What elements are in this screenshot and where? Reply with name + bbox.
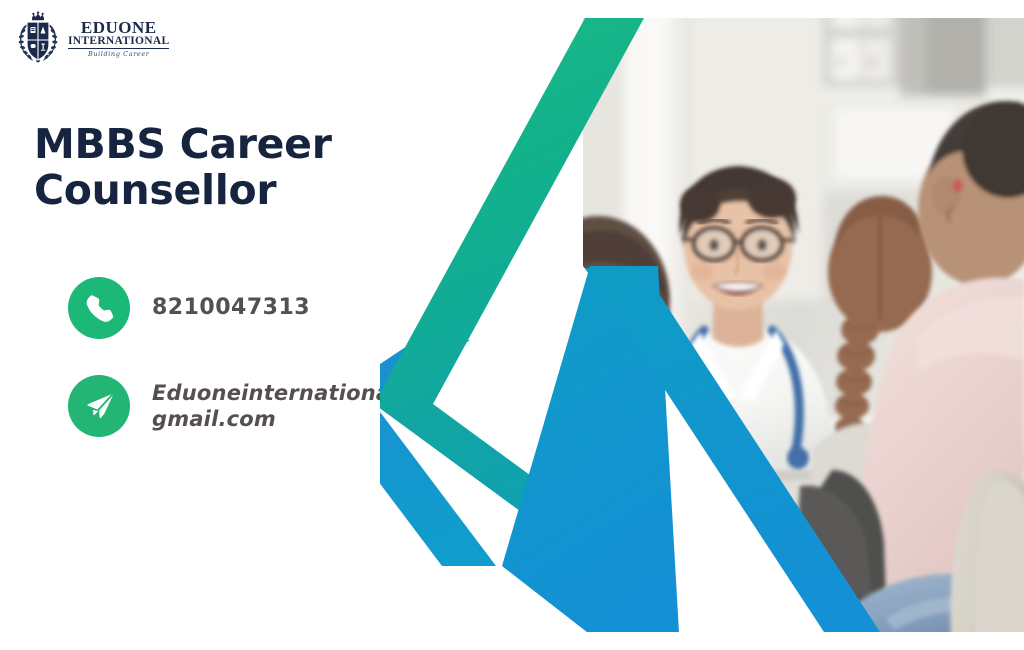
contact-email[interactable]: Eduoneinternational@ gmail.com <box>68 375 419 437</box>
career-counsellor-banner: EDUONE INTERNATIONAL Building Career MBB… <box>0 0 1024 650</box>
logo-line-1: EDUONE <box>81 19 157 36</box>
contact-phone[interactable]: 8210047313 <box>68 277 310 339</box>
shield-crest-icon <box>14 11 62 65</box>
brand-logo[interactable]: EDUONE INTERNATIONAL Building Career <box>14 10 164 66</box>
send-plane-icon <box>68 375 130 437</box>
page-title: MBBS Career Counsellor <box>34 122 394 214</box>
phone-icon <box>68 277 130 339</box>
email-address: Eduoneinternational@ gmail.com <box>152 380 419 433</box>
logo-tagline: Building Career <box>88 51 150 58</box>
logo-line-2: INTERNATIONAL <box>68 36 169 50</box>
logo-wordmark: EDUONE INTERNATIONAL Building Career <box>68 19 169 58</box>
hero-artwork <box>380 0 1024 650</box>
phone-number: 8210047313 <box>152 294 310 322</box>
